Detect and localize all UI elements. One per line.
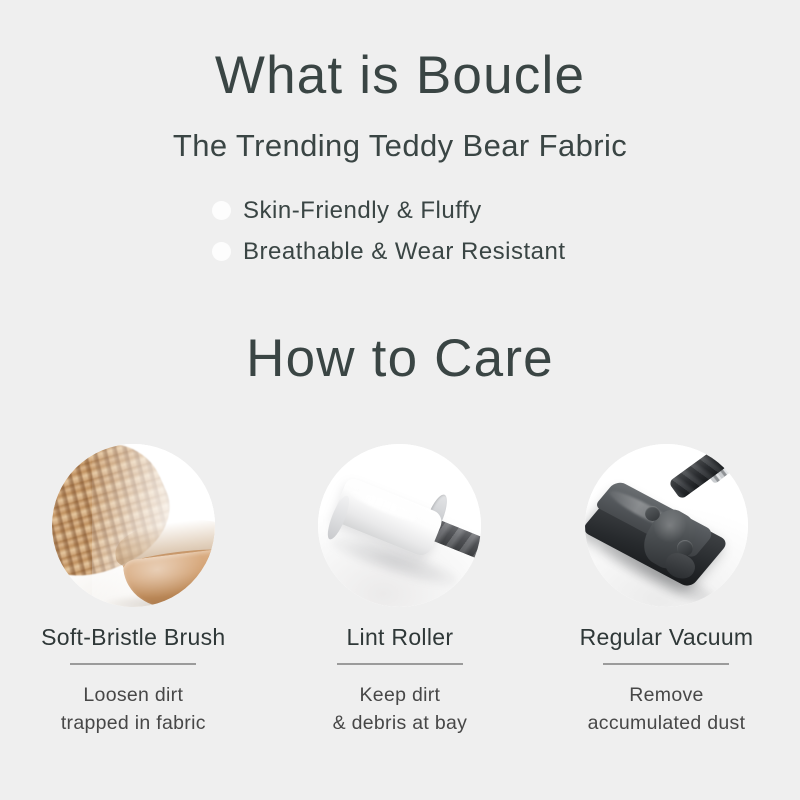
filled-circle-bullet-icon <box>212 201 231 220</box>
care-items-grid: Soft-Bristle Brush Loosen dirt trapped i… <box>0 444 800 737</box>
page-subtitle: The Trending Teddy Bear Fabric <box>0 127 800 164</box>
care-item-lint-roller: Lint Roller Keep dirt & debris at bay <box>267 444 534 737</box>
soft-bristle-brush-photo-icon <box>52 444 215 607</box>
care-item-title: Regular Vacuum <box>580 624 754 651</box>
care-item-divider <box>70 663 196 665</box>
care-item-title: Soft-Bristle Brush <box>41 624 225 651</box>
care-item-brush: Soft-Bristle Brush Loosen dirt trapped i… <box>0 444 267 737</box>
roller-scene <box>318 444 481 607</box>
care-item-description: Keep dirt & debris at bay <box>333 682 468 737</box>
care-item-description: Remove accumulated dust <box>588 682 746 737</box>
care-item-vacuum: Regular Vacuum Remove accumulated dust <box>533 444 800 737</box>
brush-scene <box>52 444 215 607</box>
page-title: What is Boucle <box>0 46 800 107</box>
care-item-divider <box>337 663 463 665</box>
lint-roller-photo-icon <box>318 444 481 607</box>
brush-front-head <box>108 493 215 607</box>
feature-label: Breathable & Wear Resistant <box>243 238 566 266</box>
filled-circle-bullet-icon <box>212 242 231 261</box>
vacuum-pivot-knob-upper <box>645 506 660 521</box>
care-item-title: Lint Roller <box>346 624 453 651</box>
care-item-description: Loosen dirt trapped in fabric <box>61 682 206 737</box>
feature-label: Skin-Friendly & Fluffy <box>243 197 482 225</box>
list-item: Skin-Friendly & Fluffy <box>212 190 642 231</box>
care-item-divider <box>603 663 729 665</box>
vacuum-scene <box>585 444 748 607</box>
vacuum-head-photo-icon <box>585 444 748 607</box>
boucle-care-infographic: What is Boucle The Trending Teddy Bear F… <box>0 0 800 800</box>
care-section-title: How to Care <box>0 329 800 390</box>
list-item: Breathable & Wear Resistant <box>212 231 642 272</box>
feature-list: Skin-Friendly & Fluffy Breathable & Wear… <box>212 190 642 272</box>
